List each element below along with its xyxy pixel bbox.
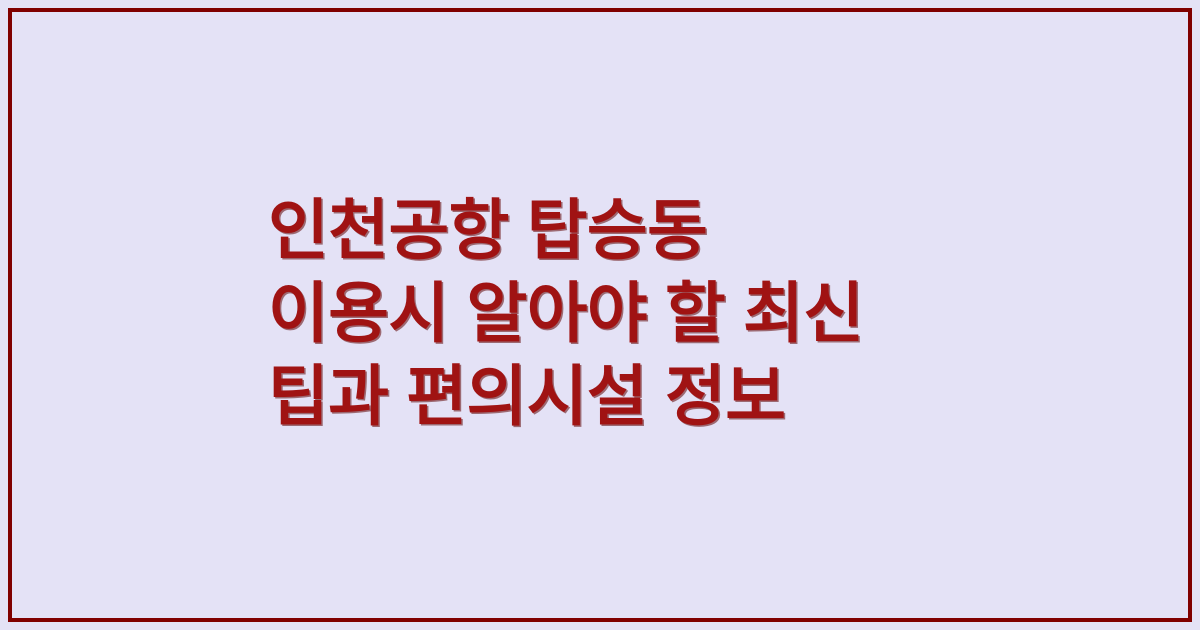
title-line-3: 팁과 편의시설 정보 — [268, 355, 1148, 438]
title-block: 인천공항 탑승동 이용시 알아야 할 최신 팁과 편의시설 정보 — [12, 189, 1188, 438]
thumbnail-canvas: 인천공항 탑승동 이용시 알아야 할 최신 팁과 편의시설 정보 — [0, 0, 1200, 630]
title-line-2: 이용시 알아야 할 최신 — [268, 272, 1148, 355]
title-line-1: 인천공항 탑승동 — [268, 189, 1148, 272]
inset-border-frame: 인천공항 탑승동 이용시 알아야 할 최신 팁과 편의시설 정보 — [8, 8, 1192, 622]
